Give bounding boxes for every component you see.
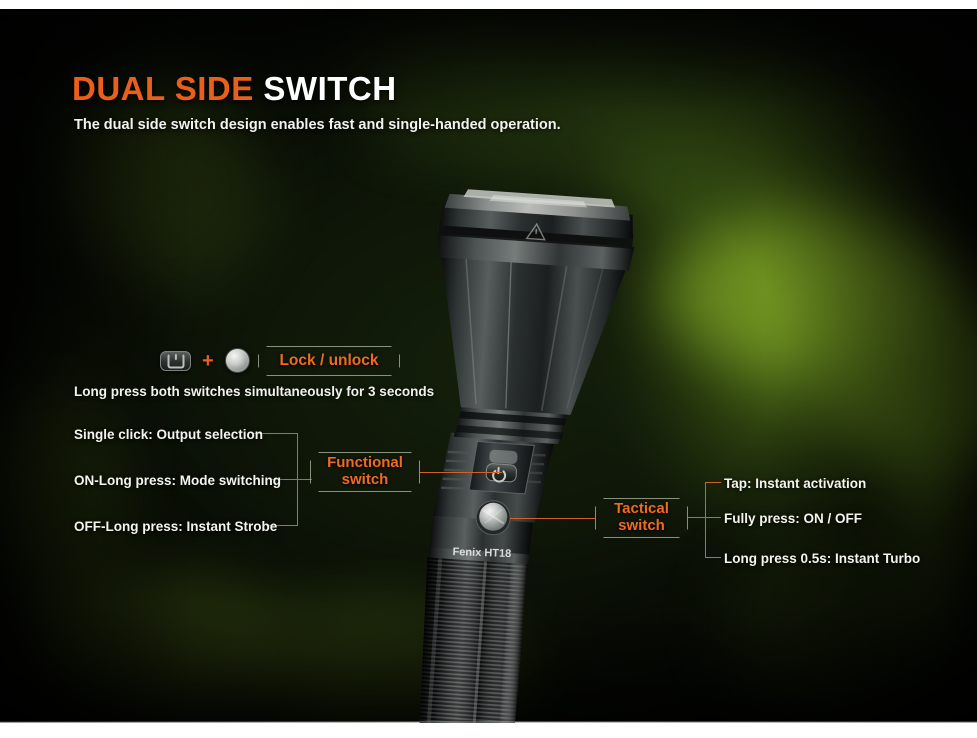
page-title-rest: SWITCH: [263, 70, 396, 107]
tactical-item-2: Long press 0.5s: Instant Turbo: [724, 551, 920, 566]
page-subtitle: The dual side switch design enables fast…: [74, 117, 561, 133]
tactical-item-0: Tap: Instant activation: [724, 476, 866, 491]
functional-switch-label: Functional switch: [310, 452, 420, 492]
lock-unlock-label: Lock / unlock: [258, 346, 400, 376]
functional-item-0: Single click: Output selection: [74, 427, 263, 442]
top-border-strip: [0, 0, 977, 9]
lock-switch-icon-row: +: [160, 348, 250, 373]
tactical-switch-icon: [225, 348, 250, 373]
lock-unlock-note: Long press both switches simultaneously …: [74, 384, 434, 399]
page-title: DUAL SIDE SWITCH: [72, 70, 397, 108]
plus-symbol-icon: +: [202, 351, 214, 371]
flashlight-product-image: Fenix HT18: [0, 0, 977, 738]
connector-chip-to-tactical-switch: [510, 518, 595, 519]
connector-right-stub-2: [705, 557, 721, 558]
infographic-slide: Fenix HT18 DUAL SIDE SWITCH The dual sid…: [0, 0, 977, 738]
bottom-border-strip: [0, 723, 977, 738]
functional-switch-icon: [160, 351, 191, 371]
page-title-accent: DUAL SIDE: [72, 70, 254, 107]
brand-model-text: Fenix HT18: [452, 546, 511, 560]
functional-item-1: ON-Long press: Mode switching: [74, 473, 281, 488]
tactical-switch-label: Tactical switch: [595, 498, 688, 538]
connector-right-stub-0: [705, 482, 721, 483]
connector-chip-to-switch: [420, 472, 502, 473]
connector-left-to-chip: [297, 479, 312, 480]
tactical-item-1: Fully press: ON / OFF: [724, 511, 862, 526]
connector-right-to-chip: [688, 517, 705, 518]
functional-item-2: OFF-Long press: Instant Strobe: [74, 519, 277, 534]
connector-right-spine: [705, 482, 706, 558]
